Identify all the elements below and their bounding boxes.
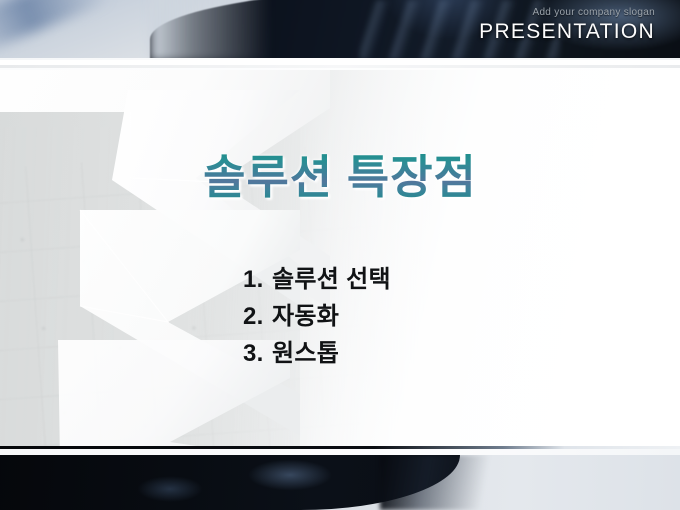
list-item: 3. 원스톱 xyxy=(243,337,391,371)
slide-header: Add your company slogan PRESENTATION xyxy=(0,0,680,60)
footer-photo-edge-fade xyxy=(380,455,500,510)
feature-list: 1. 솔루션 선택 2. 자동화 3. 원스톱 xyxy=(243,263,391,374)
slide-title-text: 솔루션 특장점 xyxy=(203,152,477,203)
list-item-number: 3. xyxy=(243,337,272,371)
slide-title: 솔루션 특장점 xyxy=(0,152,680,203)
presentation-title: PRESENTATION xyxy=(479,21,655,42)
list-item-label: 자동화 xyxy=(272,300,339,334)
list-item-number: 2. xyxy=(243,300,272,334)
header-separator-line-4 xyxy=(0,68,680,70)
list-item: 1. 솔루션 선택 xyxy=(243,263,391,297)
list-item-label: 원스톱 xyxy=(272,337,339,371)
slide-footer xyxy=(0,455,680,510)
header-text-block: Add your company slogan PRESENTATION xyxy=(479,8,655,42)
list-item-number: 1. xyxy=(243,263,272,297)
presentation-slide: Add your company slogan PRESENTATION 솔루션… xyxy=(0,0,680,510)
list-item: 2. 자동화 xyxy=(243,300,391,334)
paper-zigzag-decoration xyxy=(0,60,420,460)
company-slogan: Add your company slogan xyxy=(479,8,655,18)
list-item-label: 솔루션 선택 xyxy=(272,263,391,297)
header-photo-fade xyxy=(150,0,270,60)
